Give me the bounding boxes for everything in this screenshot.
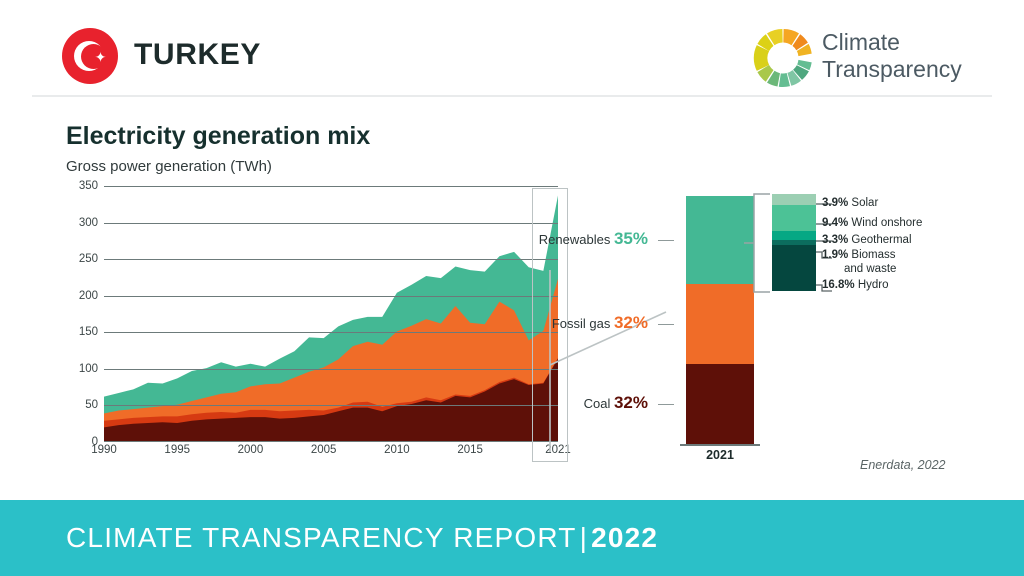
legend-value: 9.4% [822,217,848,229]
legend-label-line2: and waste [822,262,896,276]
legend-value: 1.9% [822,249,848,261]
legend-item: 1.9% Biomassand waste [822,248,896,276]
x-tick-label: 1995 [164,444,190,456]
stack-category-label: Coal 32% [480,393,648,413]
renewable-segment-geothermal[interactable] [772,231,816,240]
y-tick-label: 250 [66,253,98,265]
stack-label-name: Coal [584,396,611,411]
climate-transparency-logo-icon [752,27,814,89]
legend-value: 16.8% [822,279,855,291]
footer-title: CLIMATE TRANSPARENCY REPORT [66,522,577,553]
logo-wordmark: Climate Transparency [822,29,962,83]
x-tick-label: 2000 [238,444,264,456]
renewable-segment-wind-onshore[interactable] [772,205,816,231]
stack-label-value: 35% [614,229,648,248]
footer-divider: | [577,522,591,553]
y-tick-label: 150 [66,326,98,338]
x-axis-labels: 1990199520002005201020152021 [104,444,558,464]
x-tick-label: 2005 [311,444,337,456]
stack-label-value: 32% [614,393,648,412]
gridline [104,223,558,224]
y-tick-label: 50 [66,399,98,411]
stack-segment-coal[interactable] [686,364,754,444]
stack-label-value: 32% [614,313,648,332]
stack-label-tick [658,404,674,405]
y-axis-labels: 050100150200250300350 [66,186,98,442]
star-icon: ✦ [94,51,107,64]
renewable-segment-hydro[interactable] [772,245,816,291]
logo-line-1: Climate [822,29,962,56]
legend-item: 16.8% Hydro [822,278,889,292]
renewables-detail-bar [772,194,816,291]
page-header: ✦ TURKEY [0,0,1024,95]
header-divider [32,95,992,97]
gridline [104,369,558,370]
legend-label: Biomass [851,249,895,261]
legend-value: 3.9% [822,197,848,209]
legend-label: Wind onshore [851,217,922,229]
source-credit: Enerdata, 2022 [860,458,946,472]
legend-item: 3.3% Geothermal [822,233,912,247]
country-name: TURKEY [134,38,261,72]
stack-label-name: Fossil gas [552,316,611,331]
gridline [104,186,558,187]
gridline [104,296,558,297]
page-title: Electricity generation mix [66,122,370,151]
stack-category-label: Renewables 35% [480,229,648,249]
y-tick-label: 100 [66,363,98,375]
x-axis-line [104,441,558,443]
x-tick-label: 1990 [91,444,117,456]
stacked-bar-year-label: 2021 [686,448,754,462]
stack-label-tick [658,324,674,325]
page-subtitle: Gross power generation (TWh) [66,158,272,175]
stack-label-name: Renewables [539,232,611,247]
stack-category-label: Fossil gas 32% [480,313,648,333]
turkey-flag-icon: ✦ [62,28,118,84]
logo-line-2: Transparency [822,56,962,83]
y-tick-label: 200 [66,290,98,302]
slide-root: ✦ TURKEY [0,0,1024,576]
legend-label: Hydro [858,279,889,291]
stack-label-tick [658,240,674,241]
footer-text: CLIMATE TRANSPARENCY REPORT|2022 [66,522,658,554]
y-tick-label: 300 [66,217,98,229]
x-tick-label: 2010 [384,444,410,456]
renewables-bracket [742,192,772,296]
x-tick-label: 2015 [457,444,483,456]
footer-year: 2022 [591,522,658,553]
renewable-segment-solar[interactable] [772,194,816,205]
legend-label: Solar [851,197,878,209]
legend-label: Geothermal [851,234,911,246]
gridline [104,259,558,260]
stacked-bar-axis [680,444,760,446]
legend-value: 3.3% [822,234,848,246]
legend-item: 9.4% Wind onshore [822,216,922,230]
legend-item: 3.9% Solar [822,196,878,210]
y-tick-label: 350 [66,180,98,192]
